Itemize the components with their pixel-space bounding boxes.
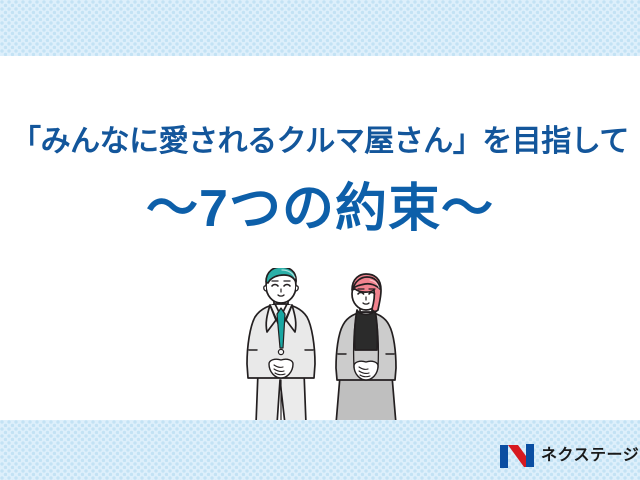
headline-primary: 「みんなに愛されるクルマ屋さん」を目指して — [0, 122, 640, 162]
brand-logo-text: ネクステージ — [541, 448, 639, 464]
headline-secondary: 〜7つの約束〜 — [0, 176, 640, 242]
staff-illustration — [236, 268, 416, 424]
male-staff-figure — [247, 268, 315, 424]
promo-banner: 「みんなに愛されるクルマ屋さん」を目指して 〜7つの約束〜 — [0, 0, 640, 480]
dotted-band-top — [0, 0, 640, 56]
nextage-n-mark-icon — [500, 444, 534, 468]
female-staff-figure — [336, 274, 396, 424]
brand-logo: ネクステージ — [500, 441, 632, 471]
